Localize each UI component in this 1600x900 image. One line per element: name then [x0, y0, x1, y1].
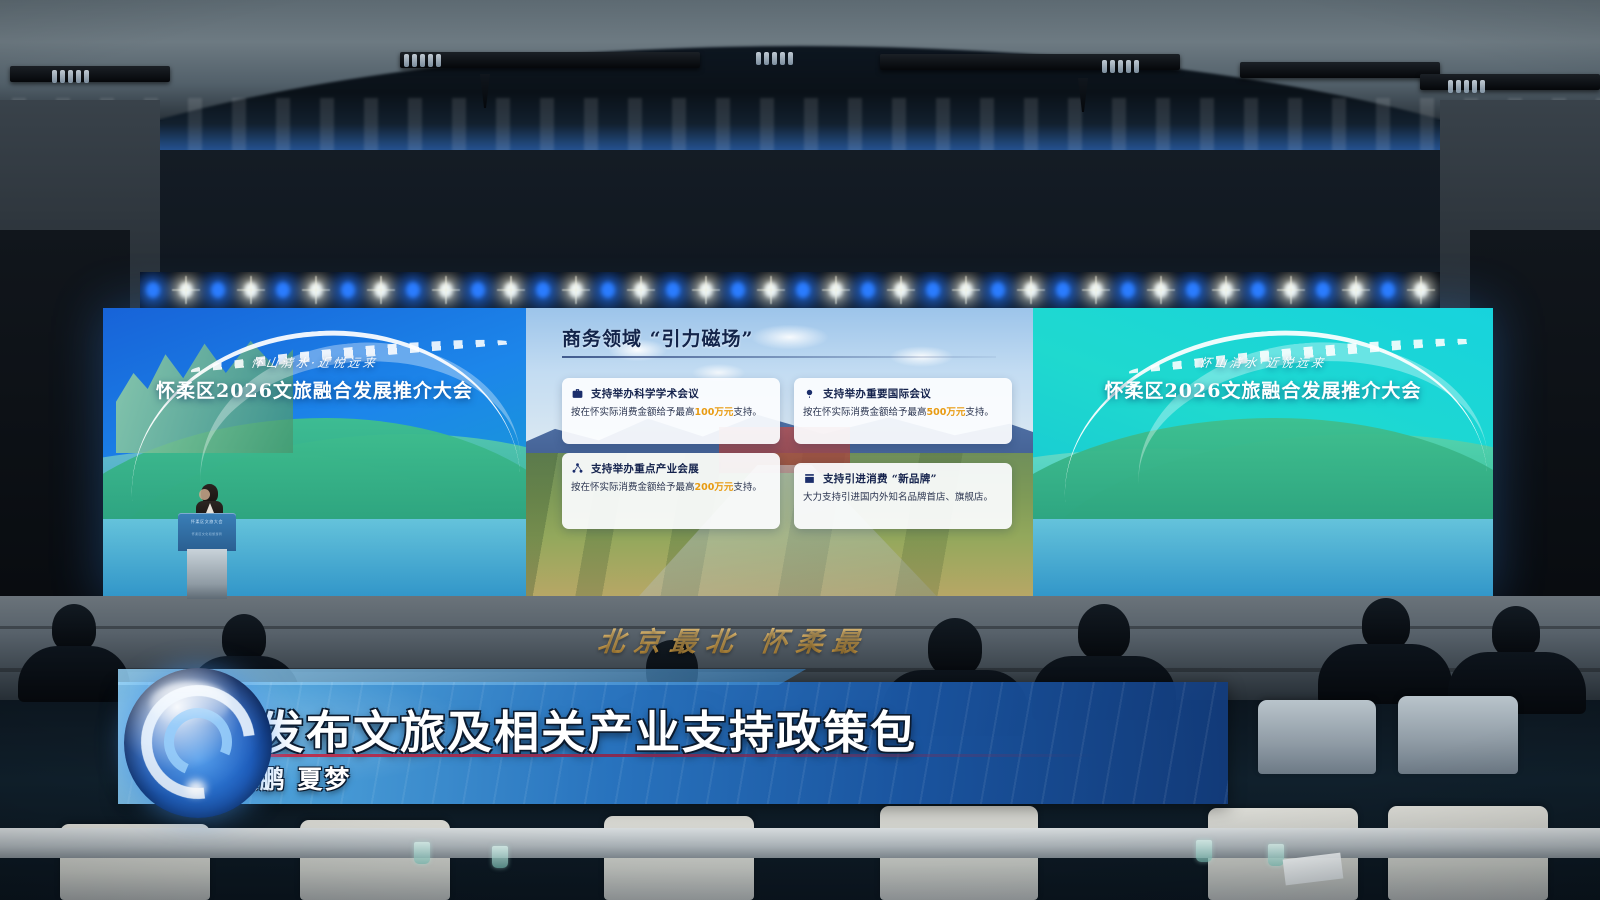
- stage-light: [1381, 282, 1395, 298]
- stage-light: [861, 282, 875, 298]
- right-panel-branding: 怀山清水·近悦远来 怀柔区2026文旅融合发展推介大会: [1033, 354, 1493, 403]
- policy-card-title: 支持举办科学学术会议: [591, 386, 699, 401]
- audience-head: [1492, 606, 1540, 658]
- policy-card: 支持举办重要国际会议 按在怀实际消费金额给予最高500万元支持。: [794, 378, 1012, 444]
- left-panel-title: 怀柔区2026文旅融合发展推介大会: [103, 376, 526, 403]
- stage-light: [439, 282, 453, 298]
- stage-light: [1089, 282, 1103, 298]
- policy-card-body: 按在怀实际消费金额给予最高500万元支持。: [803, 406, 1003, 421]
- stage-light: [146, 282, 160, 298]
- stage-light: [666, 282, 680, 298]
- stage-light: [699, 282, 713, 298]
- stage-light: [634, 282, 648, 298]
- policy-card-title: 支持引进消费 “新品牌”: [823, 471, 937, 486]
- policy-body-suffix: 支持。: [965, 407, 994, 418]
- ceiling-truss-5: [1420, 74, 1600, 90]
- water-glass: [1196, 840, 1212, 862]
- policy-body-prefix: 大力支持引进国内外知名品牌首店、旗舰店。: [803, 492, 993, 503]
- broadcast-frame: 怀山清水·近悦远来 怀柔区2026文旅融合发展推介大会 商务领域 “引力磁场”: [0, 0, 1600, 900]
- stage-light: [829, 282, 843, 298]
- slide-title: 商务领域 “引力磁场”: [562, 324, 753, 351]
- policy-amount: 200万元: [695, 482, 734, 493]
- stage-light-bar: [140, 272, 1440, 312]
- stage-light: [1251, 282, 1265, 298]
- front-table: [0, 828, 1600, 858]
- water-glass: [492, 846, 508, 868]
- water-glass: [1268, 844, 1284, 866]
- audience-head: [1078, 604, 1130, 660]
- policy-body-prefix: 按在怀实际消费金额给予最高: [803, 407, 927, 418]
- stage-light: [1056, 282, 1070, 298]
- ceiling-lamp-cluster-4: [1102, 60, 1139, 73]
- stage-light: [309, 282, 323, 298]
- policy-card: 支持举办重点产业会展 按在怀实际消费金额给予最高200万元支持。: [562, 453, 780, 529]
- stage-light: [731, 282, 745, 298]
- stage-light: [1186, 282, 1200, 298]
- stage-light: [601, 282, 615, 298]
- briefcase-icon: [571, 387, 584, 400]
- slide-policy-cards: 支持举办科学学术会议 按在怀实际消费金额给予最高100万元支持。 支持举办重要国…: [562, 378, 1012, 529]
- audience-head: [222, 614, 266, 662]
- stage-light: [406, 282, 420, 298]
- lower-third-banner: 我区发布文旅及相关产业支持政策包 记者 张鹏 夏梦: [0, 660, 1600, 830]
- policy-card: 支持引进消费 “新品牌” 大力支持引进国内外知名品牌首店、旗舰店。: [794, 463, 1012, 529]
- stage-light: [1219, 282, 1233, 298]
- network-icon: [571, 462, 584, 475]
- policy-body-suffix: 支持。: [733, 407, 762, 418]
- policy-body-prefix: 按在怀实际消费金额给予最高: [571, 482, 695, 493]
- stage-apron-sign: 北京最北 怀柔最: [596, 620, 871, 659]
- stage-light: [211, 282, 225, 298]
- stage-light: [1414, 282, 1428, 298]
- stage-light: [374, 282, 388, 298]
- stage-light: [244, 282, 258, 298]
- policy-card-body: 大力支持引进国内外知名品牌首店、旗舰店。: [803, 491, 1003, 506]
- policy-body-prefix: 按在怀实际消费金额给予最高: [571, 407, 695, 418]
- podium: 怀柔区文旅大会 怀柔区文化和旅游局: [178, 513, 236, 599]
- policy-amount: 100万元: [695, 407, 734, 418]
- audience-head: [52, 604, 96, 652]
- stage-light: [926, 282, 940, 298]
- ceiling-lamp-cluster-3: [756, 52, 793, 65]
- stage-light: [1024, 282, 1038, 298]
- news-headline: 我区发布文旅及相关产业支持政策包: [165, 696, 917, 761]
- led-video-wall: 怀山清水·近悦远来 怀柔区2026文旅融合发展推介大会 商务领域 “引力磁场”: [103, 308, 1493, 598]
- stage-light: [471, 282, 485, 298]
- stage-light: [179, 282, 193, 298]
- stage-light: [1284, 282, 1298, 298]
- policy-amount: 500万元: [927, 407, 966, 418]
- left-panel-tagline: 怀山清水·近悦远来: [103, 354, 526, 371]
- led-panel-center-slide: 商务领域 “引力磁场” 支持举办科学学术会议 按在怀实际消费金额给予最高100万…: [526, 308, 1033, 598]
- right-panel-tagline: 怀山清水·近悦远来: [1033, 354, 1493, 371]
- slide-title-rule: [562, 356, 996, 358]
- stage-light: [991, 282, 1005, 298]
- stage-light: [536, 282, 550, 298]
- podium-front-subtext: 怀柔区文化和旅游局: [178, 532, 236, 536]
- stage-light: [894, 282, 908, 298]
- policy-body-suffix: 支持。: [733, 482, 762, 493]
- stage-light: [1316, 282, 1330, 298]
- policy-card-title: 支持举办重要国际会议: [823, 386, 931, 401]
- led-panel-right: 怀山清水·近悦远来 怀柔区2026文旅融合发展推介大会: [1033, 308, 1493, 598]
- storefront-icon: [803, 472, 816, 485]
- led-panel-left: 怀山清水·近悦远来 怀柔区2026文旅融合发展推介大会: [103, 308, 526, 598]
- water-glass: [414, 842, 430, 864]
- stage-light: [1349, 282, 1363, 298]
- stage-light: [959, 282, 973, 298]
- ceiling-lamp-cluster-2: [404, 54, 441, 67]
- channel-sphere-logo: [124, 668, 272, 818]
- ceiling-lamp-cluster-1: [52, 70, 89, 83]
- stage-light: [504, 282, 518, 298]
- stage-light: [569, 282, 583, 298]
- stage-light: [1154, 282, 1168, 298]
- headline-underline: [160, 754, 1095, 757]
- ceiling-lamp-cluster-5: [1448, 80, 1485, 93]
- podium-front-text: 怀柔区文旅大会: [178, 519, 236, 525]
- ceiling-truss-1: [10, 66, 170, 82]
- stage-light: [796, 282, 810, 298]
- policy-card-title: 支持举办重点产业会展: [591, 461, 699, 476]
- stage-light: [341, 282, 355, 298]
- audience-head: [1362, 598, 1410, 650]
- policy-card-body: 按在怀实际消费金额给予最高200万元支持。: [571, 481, 771, 496]
- stage-light: [276, 282, 290, 298]
- policy-card: 支持举办科学学术会议 按在怀实际消费金额给予最高100万元支持。: [562, 378, 780, 444]
- left-panel-branding: 怀山清水·近悦远来 怀柔区2026文旅融合发展推介大会: [103, 354, 526, 403]
- right-panel-title: 怀柔区2026文旅融合发展推介大会: [1033, 376, 1493, 403]
- stage-light: [1121, 282, 1135, 298]
- ceiling-truss-2: [400, 52, 700, 68]
- globe-pin-icon: [803, 387, 816, 400]
- policy-card-body: 按在怀实际消费金额给予最高100万元支持。: [571, 406, 771, 421]
- stage-light: [764, 282, 778, 298]
- ceiling-truss-4: [1240, 62, 1440, 78]
